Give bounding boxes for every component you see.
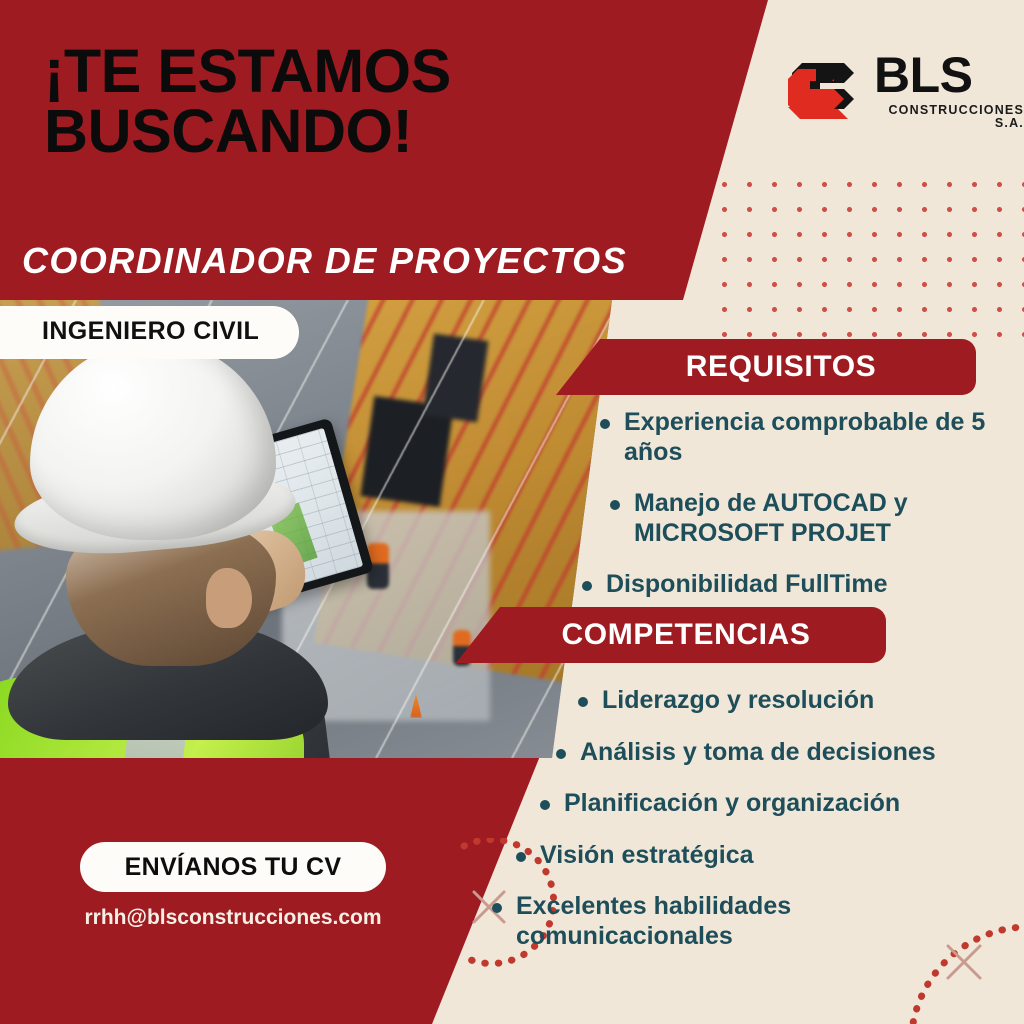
send-cv-label: ENVÍANOS TU CV: [125, 853, 342, 882]
bullet-dot-icon: [556, 749, 566, 759]
list-item: Planificación y organización: [540, 789, 1012, 819]
headline-line-1: ¡TE ESTAMOS: [44, 42, 644, 102]
bls-monogram-icon: [786, 51, 860, 129]
brand-logo-text: BLS CONSTRUCCIONES S.A.: [874, 50, 1024, 129]
engineer-ear: [206, 568, 252, 628]
list-item-text: Experiencia comprobable de 5 años: [624, 408, 1012, 467]
contact-email[interactable]: rrhh@blsconstrucciones.com: [72, 906, 394, 930]
list-item-text: Liderazgo y resolución: [602, 686, 874, 716]
brand-name: BLS: [874, 50, 1024, 100]
competencias-list: Liderazgo y resolución Análisis y toma d…: [500, 686, 1012, 951]
role-badge-label: INGENIERO CIVIL: [42, 317, 259, 345]
bullet-dot-icon: [578, 697, 588, 707]
bullet-dot-icon: [516, 852, 526, 862]
list-item: Excelentes habilidades comunicacionales: [492, 892, 1012, 951]
section-banner-competencias: COMPETENCIAS: [456, 607, 886, 663]
brand-logo: BLS CONSTRUCCIONES S.A.: [786, 50, 1024, 129]
bullet-dot-icon: [540, 800, 550, 810]
foreground-engineer: [0, 340, 400, 758]
bullet-dot-icon: [610, 500, 620, 510]
white-hard-hat: [30, 340, 276, 540]
brand-tagline: CONSTRUCCIONES S.A.: [874, 104, 1024, 129]
bullet-dot-icon: [492, 903, 502, 913]
list-item: Manejo de AUTOCAD y MICROSOFT PROJET: [610, 489, 1012, 548]
list-item-text: Análisis y toma de decisiones: [580, 738, 936, 768]
dot-grid-pattern: [712, 172, 1024, 340]
list-item-text: Excelentes habilidades comunicacionales: [516, 892, 1012, 951]
role-badge: INGENIERO CIVIL: [0, 306, 299, 359]
list-item: Liderazgo y resolución: [578, 686, 1012, 716]
send-cv-button[interactable]: ENVÍANOS TU CV: [80, 842, 386, 892]
section-title-requisitos: REQUISITOS: [656, 350, 876, 384]
list-item: Experiencia comprobable de 5 años: [600, 408, 1012, 467]
list-item: Visión estratégica: [516, 841, 1012, 871]
list-item-text: Disponibilidad FullTime: [606, 570, 888, 600]
list-item-text: Manejo de AUTOCAD y MICROSOFT PROJET: [634, 489, 1012, 548]
list-item: Disponibilidad FullTime: [582, 570, 1012, 600]
job-posting-poster: ¡TE ESTAMOS BUSCANDO! COORDINADOR DE PRO…: [0, 0, 1024, 1024]
list-item-text: Visión estratégica: [540, 841, 754, 871]
list-item: Análisis y toma de decisiones: [556, 738, 1012, 768]
headline-line-2: BUSCANDO!: [44, 102, 644, 162]
bullet-dot-icon: [600, 419, 610, 429]
list-item-text: Planificación y organización: [564, 789, 900, 819]
page-title: ¡TE ESTAMOS BUSCANDO!: [44, 42, 644, 162]
section-banner-requisitos: REQUISITOS: [556, 339, 976, 395]
section-title-competencias: COMPETENCIAS: [532, 618, 811, 652]
job-position-subtitle: COORDINADOR DE PROYECTOS: [22, 240, 627, 282]
requisitos-list: Experiencia comprobable de 5 años Manejo…: [600, 408, 1012, 600]
bullet-dot-icon: [582, 581, 592, 591]
